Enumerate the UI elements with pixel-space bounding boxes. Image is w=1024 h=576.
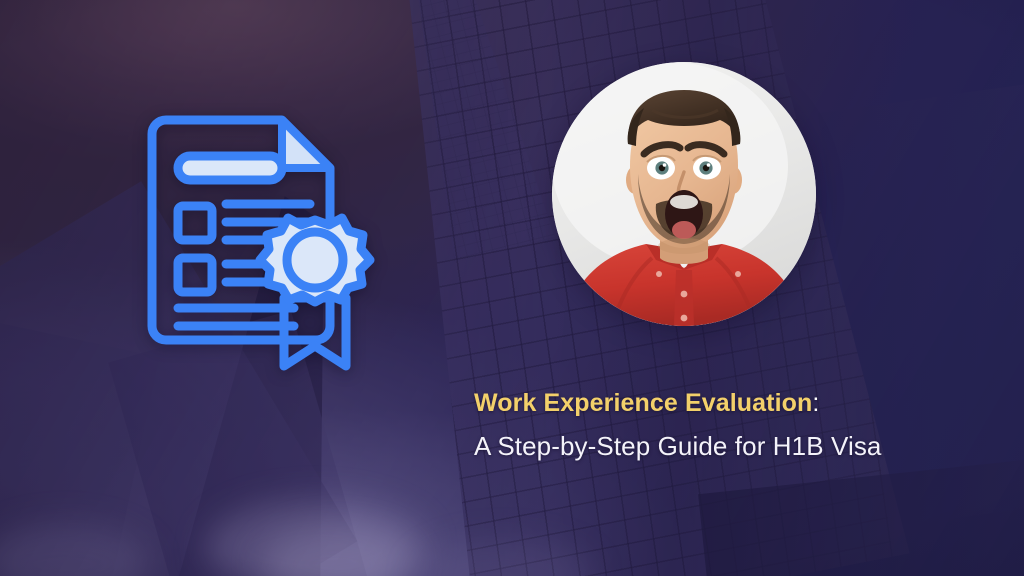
banner-graphic: Work Experience Evaluation: A Step-by-St… — [0, 0, 1024, 576]
document-checkbox — [178, 258, 212, 292]
document-checkbox — [178, 206, 212, 240]
headline-colon: : — [812, 389, 819, 417]
document-folded-corner — [282, 120, 330, 168]
certificate-document-icon — [134, 112, 384, 372]
headline-emphasis: Work Experience Evaluation — [474, 389, 812, 417]
headline-line-secondary: A Step-by-Step Guide for H1B Visa — [474, 430, 994, 462]
headline-block: Work Experience Evaluation: A Step-by-St… — [474, 388, 994, 462]
certificate-seal — [260, 218, 370, 302]
headline-line-primary: Work Experience Evaluation: — [474, 388, 994, 418]
document-title-bar — [178, 156, 282, 180]
surprised-man-portrait — [552, 62, 816, 326]
